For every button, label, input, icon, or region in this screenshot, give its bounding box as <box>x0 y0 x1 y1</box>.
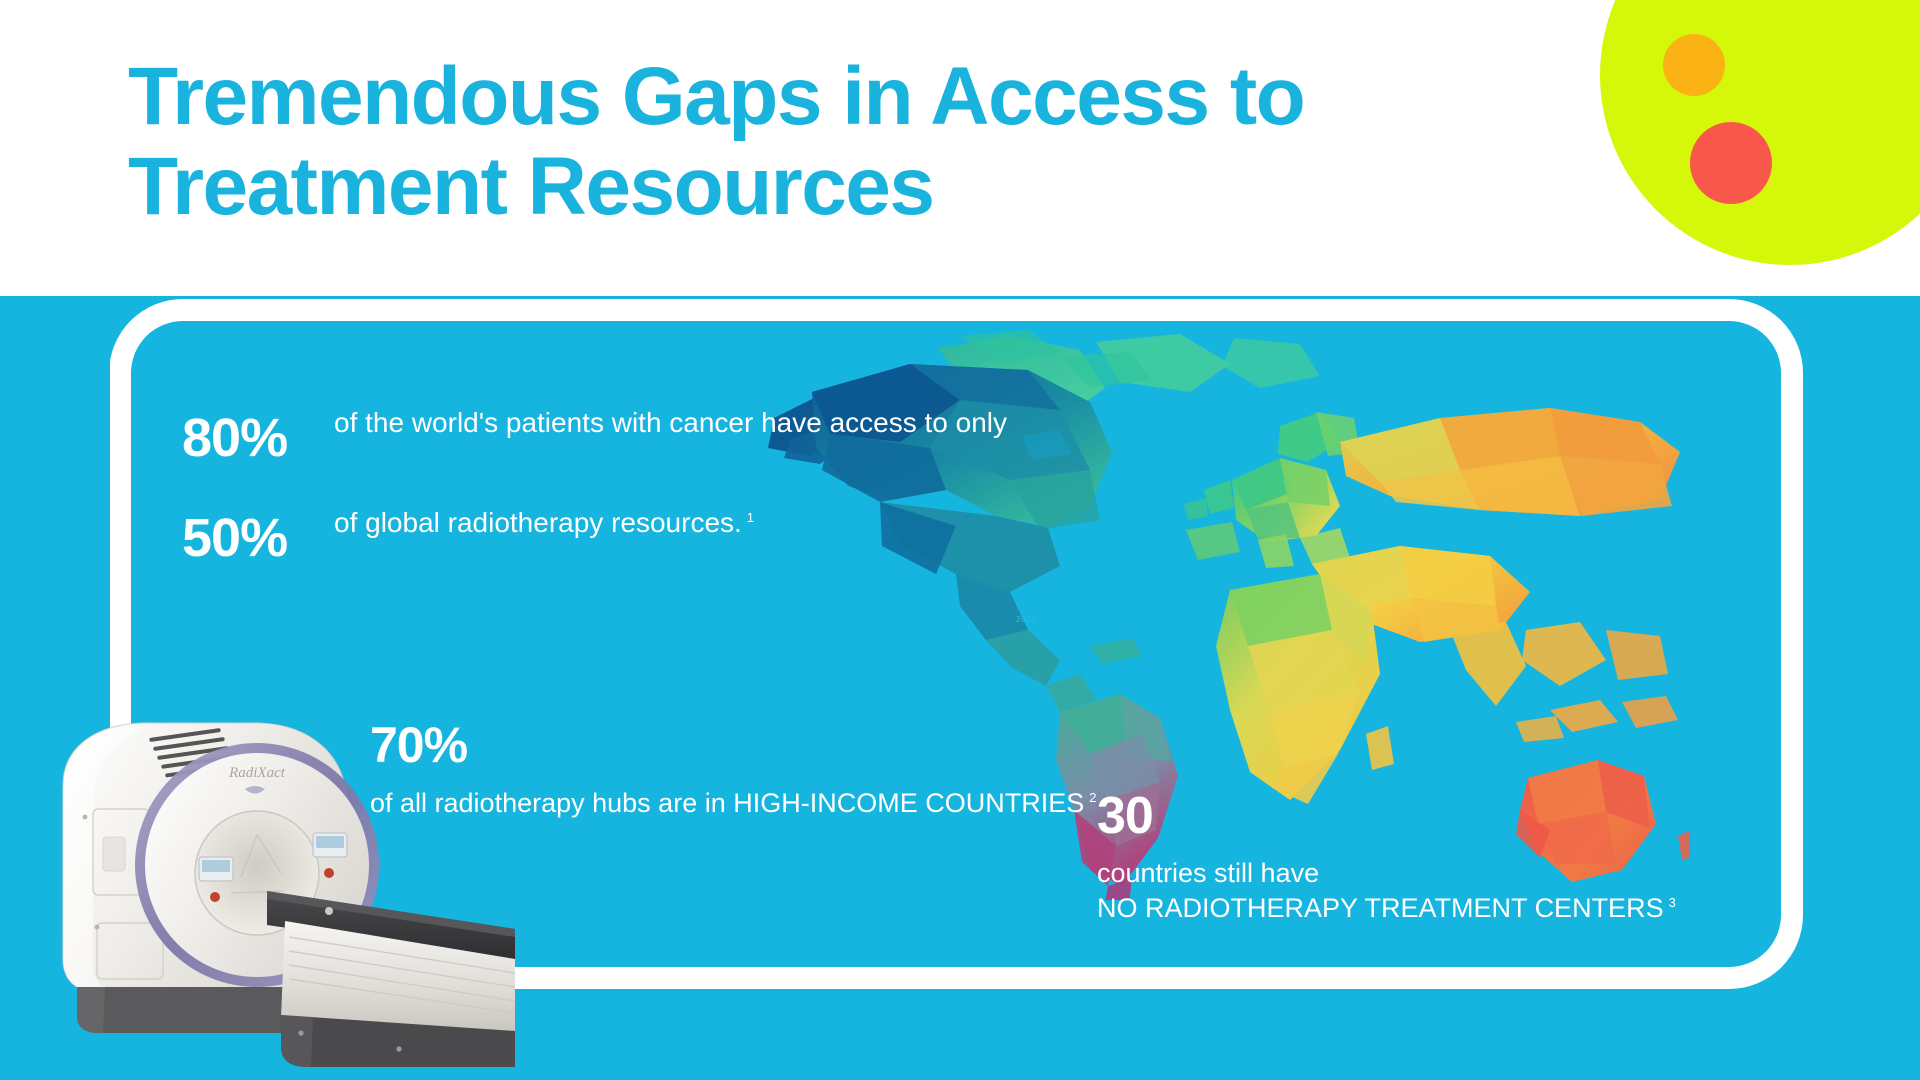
footnotes: 1 https://ascopubs.org/doi/10.1200/GO.22… <box>0 1016 1920 1080</box>
footnote-marker-2: 2 <box>1089 790 1096 805</box>
stat-50-value: 50% <box>182 505 334 565</box>
stat-30-text: countries still haveNO RADIOTHERAPY TREA… <box>1097 856 1676 926</box>
machine-brand-text: RadiXact <box>228 765 286 781</box>
stat-30-value: 30 <box>1097 790 1676 842</box>
stat-80-text: of the world's patients with cancer have… <box>334 405 1007 441</box>
stat-80-percent: 80% of the world's patients with cancer … <box>182 405 1007 465</box>
stat-50-text: of global radiotherapy resources.1 <box>334 505 754 541</box>
stat-50-percent: 50% of global radiotherapy resources.1 <box>182 505 754 565</box>
amber-circle-decoration <box>1663 34 1725 96</box>
coral-circle-decoration <box>1690 122 1772 204</box>
stat-50-text-body: of global radiotherapy resources. <box>334 507 742 538</box>
footnote-marker-1: 1 <box>747 510 754 525</box>
page-title: Tremendous Gaps in Access to Treatment R… <box>128 52 1528 232</box>
stat-80-value: 80% <box>182 405 334 465</box>
stat-30-text-line2: NO RADIOTHERAPY TREATMENT CENTERS <box>1097 893 1664 923</box>
map-caption: 2023 <box>1016 615 1036 624</box>
stat-30-text-line1: countries still have <box>1097 858 1319 888</box>
stat-30-countries: 30 countries still haveNO RADIOTHERAPY T… <box>1097 790 1676 926</box>
footnote-marker-3: 3 <box>1669 895 1676 910</box>
